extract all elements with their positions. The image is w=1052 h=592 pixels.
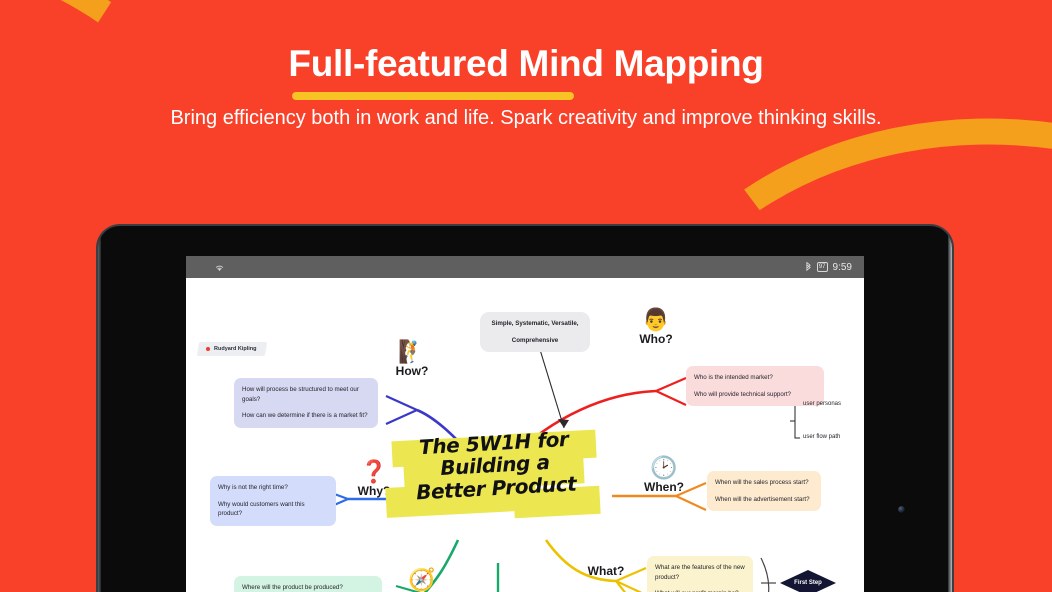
question-when-2: When will the advertisement start? <box>715 495 813 505</box>
who-subitem-personas[interactable]: user personas <box>803 400 841 408</box>
branch-when-questions[interactable]: When will the sales process start? When … <box>707 471 821 511</box>
mindmap-canvas[interactable]: Rudyard Kipling Simple, Systematic, Vers… <box>186 278 864 592</box>
question-how-2: How can we determine if there is a marke… <box>242 411 370 421</box>
page-subtitle: Bring efficiency both in work and life. … <box>0 107 1052 130</box>
branch-where[interactable]: 🧭 Where? <box>394 568 450 592</box>
device-screen: 97 9:59 <box>186 256 864 592</box>
clock-icon: 🕑 <box>636 456 692 480</box>
promo-header: Full-featured Mind Mapping Bring efficie… <box>0 0 1052 130</box>
question-who-2: Who will provide technical support? <box>694 390 816 400</box>
question-how-1: How will process be structured to meet o… <box>242 385 370 404</box>
device-edge-left <box>98 226 101 592</box>
tag-dot-icon <box>206 347 210 351</box>
question-what-1: What are the features of the new product… <box>655 563 745 582</box>
branch-who[interactable]: 👨 Who? <box>630 308 682 346</box>
bluetooth-icon <box>805 262 812 273</box>
author-tag[interactable]: Rudyard Kipling <box>197 342 268 356</box>
note-card-line-2: Comprehensive <box>488 336 582 346</box>
question-why-1: Why is not the right time? <box>218 483 328 493</box>
branch-what[interactable]: What? <box>578 564 634 578</box>
branch-when-label: When? <box>636 480 692 494</box>
status-bar: 97 9:59 <box>186 256 864 278</box>
page-title: Full-featured Mind Mapping <box>288 44 763 85</box>
branch-where-questions[interactable]: Where will the product be produced? <box>234 576 382 592</box>
question-who-1: Who is the intended market? <box>694 373 816 383</box>
page-title-highlight: Full-featured <box>288 43 508 84</box>
question-why-2: Why would customers want this product? <box>218 500 328 519</box>
device-edge-right <box>948 226 952 592</box>
status-clock: 9:59 <box>833 262 852 273</box>
question-where-1: Where will the product be produced? <box>242 583 374 592</box>
branch-how-label: How? <box>386 364 438 378</box>
branch-how[interactable]: 🧗 How? <box>386 340 438 378</box>
compass-icon: 🧭 <box>394 568 450 592</box>
author-tag-label: Rudyard Kipling <box>214 346 256 352</box>
battery-icon: 97 <box>817 262 828 272</box>
hiker-icon: 🧗 <box>386 340 438 364</box>
branch-when[interactable]: 🕑 When? <box>636 456 692 494</box>
note-card[interactable]: Simple, Systematic, Versatile, Comprehen… <box>480 312 590 352</box>
camera-icon <box>898 506 905 513</box>
question-when-1: When will the sales process start? <box>715 478 813 488</box>
branch-what-questions[interactable]: What are the features of the new product… <box>647 556 753 592</box>
page-title-rest: Mind Mapping <box>509 43 764 84</box>
person-icon: 👨 <box>630 308 682 332</box>
branch-how-questions[interactable]: How will process be structured to meet o… <box>234 378 378 428</box>
who-subitem-flow-path[interactable]: user flow path <box>803 433 840 441</box>
branch-who-label: Who? <box>630 332 682 346</box>
branch-why-questions[interactable]: Why is not the right time? Why would cus… <box>210 476 336 526</box>
branch-what-label: What? <box>578 564 634 578</box>
central-topic[interactable]: The 5W1H for Building a Better Product <box>386 426 604 526</box>
title-underline <box>292 92 574 100</box>
note-card-line-1: Simple, Systematic, Versatile, <box>488 319 582 329</box>
tablet-device: 97 9:59 <box>98 226 952 592</box>
wifi-icon <box>214 262 225 273</box>
